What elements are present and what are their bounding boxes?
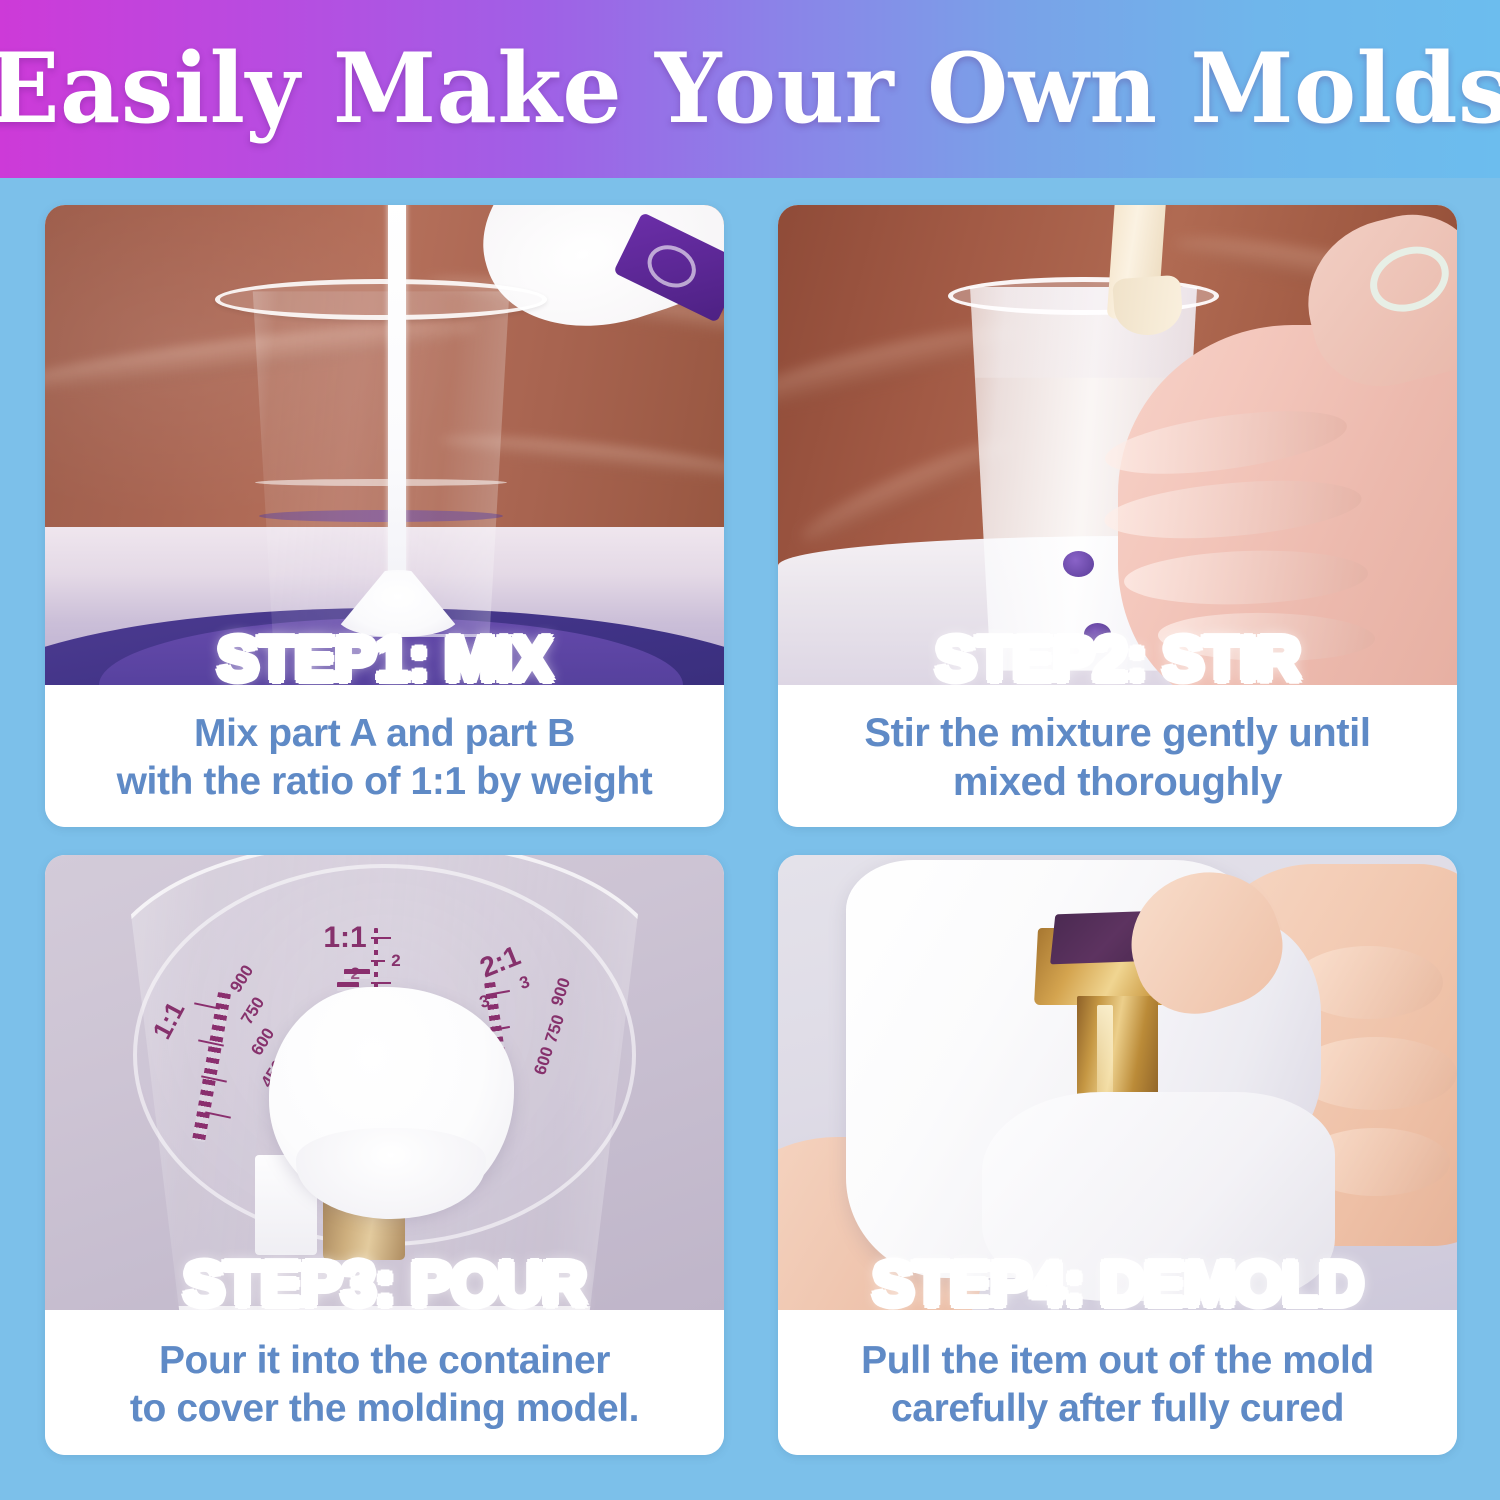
step-2-caption-text: Stir the mixture gently until mixed thor… bbox=[864, 709, 1370, 807]
step-2-caption: Stir the mixture gently until mixed thor… bbox=[778, 685, 1457, 827]
silicone-pour-stream bbox=[388, 205, 406, 608]
step-2-photo: STEP2: STIR bbox=[778, 205, 1457, 685]
step-4-caption: Pull the item out of the mold carefully … bbox=[778, 1310, 1457, 1455]
step-4-caption-text: Pull the item out of the mold carefully … bbox=[861, 1337, 1374, 1432]
step-2-caption-line-2: mixed thoroughly bbox=[864, 758, 1370, 807]
scale-label-ratio-center: 1:1 bbox=[323, 921, 366, 955]
step-1-caption: Mix part A and part B with the ratio of … bbox=[45, 685, 724, 827]
step-3-caption-line-1: Pour it into the container bbox=[130, 1337, 639, 1385]
step-card-1[interactable]: STEP1: MIX Mix part A and part B with th… bbox=[45, 205, 724, 827]
cup-rim bbox=[215, 279, 548, 320]
steps-grid: STEP1: MIX Mix part A and part B with th… bbox=[45, 205, 1457, 1455]
step-3-heading: STEP3: POUR bbox=[45, 1254, 724, 1310]
step-1-caption-line-2: with the ratio of 1:1 by weight bbox=[117, 758, 653, 806]
page-title: Easily Make Your Own Molds bbox=[0, 41, 1500, 137]
step-1-photo: STEP1: MIX bbox=[45, 205, 724, 685]
step-1-caption-line-1: Mix part A and part B bbox=[117, 710, 653, 758]
purple-speck bbox=[1063, 551, 1094, 577]
step-card-3[interactable]: 1:1 900 750 600 450 1:1 2 2 2:1 bbox=[45, 855, 724, 1455]
scale-tick bbox=[371, 982, 391, 984]
step-3-photo: 1:1 900 750 600 450 1:1 2 2 2:1 bbox=[45, 855, 724, 1310]
step-4-heading-text: STEP4: DEMOLD bbox=[873, 1250, 1363, 1310]
step-card-2[interactable]: STEP2: STIR Stir the mixture gently unti… bbox=[778, 205, 1457, 827]
step-1-heading: STEP1: MIX bbox=[45, 629, 724, 685]
scale-tick bbox=[371, 960, 385, 962]
scale-number-center-1: 2 bbox=[391, 951, 400, 971]
step-4-photo: STEP4: DEMOLD bbox=[778, 855, 1457, 1310]
step-2-heading: STEP2: STIR bbox=[778, 629, 1457, 685]
step-4-heading: STEP4: DEMOLD bbox=[778, 1254, 1457, 1310]
step-3-heading-text: STEP3: POUR bbox=[183, 1250, 585, 1310]
step-1-caption-text: Mix part A and part B with the ratio of … bbox=[117, 710, 653, 805]
step-3-caption-line-2: to cover the molding model. bbox=[130, 1385, 639, 1433]
step-2-caption-line-1: Stir the mixture gently until bbox=[864, 709, 1370, 758]
scale-block-center bbox=[344, 969, 370, 979]
step-3-caption-text: Pour it into the container to cover the … bbox=[130, 1337, 639, 1432]
step-card-4[interactable]: STEP4: DEMOLD Pull the item out of the m… bbox=[778, 855, 1457, 1455]
step-3-caption: Pour it into the container to cover the … bbox=[45, 1310, 724, 1455]
step-4-caption-line-2: carefully after fully cured bbox=[861, 1385, 1374, 1433]
header-banner: Easily Make Your Own Molds bbox=[0, 0, 1500, 178]
step-2-heading-text: STEP2: STIR bbox=[935, 625, 1300, 685]
step-1-heading-text: STEP1: MIX bbox=[217, 625, 552, 685]
scale-tick bbox=[371, 937, 391, 939]
step-4-caption-line-1: Pull the item out of the mold bbox=[861, 1337, 1374, 1385]
